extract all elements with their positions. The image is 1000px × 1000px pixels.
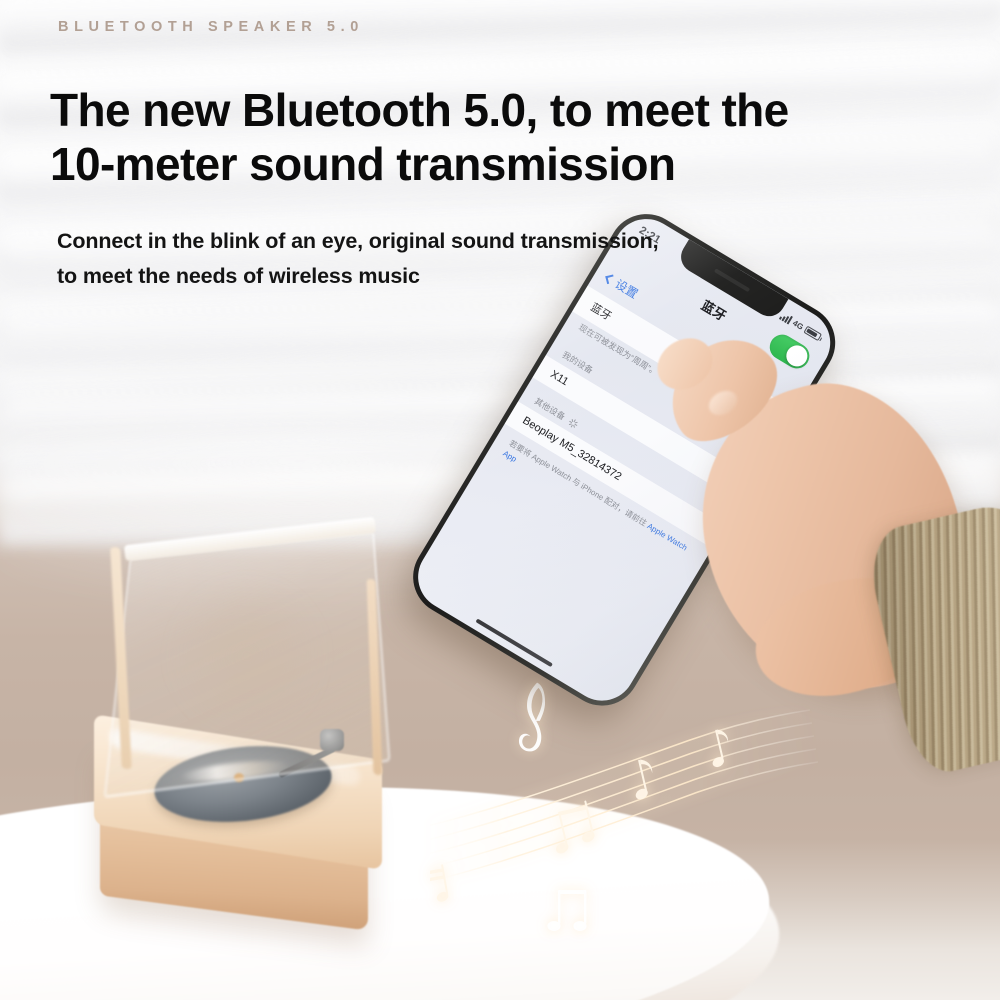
page-title: 蓝牙 bbox=[699, 295, 731, 325]
eyebrow-label: BLUETOOTH SPEAKER 5.0 bbox=[58, 19, 364, 35]
acrylic-lid bbox=[104, 532, 391, 798]
bluetooth-row-label: 蓝牙 bbox=[588, 299, 615, 324]
signal-bars-icon bbox=[779, 311, 793, 324]
thumb-group bbox=[612, 330, 1000, 760]
bluetooth-turntable-speaker bbox=[88, 525, 408, 945]
subheadline-line-1: Connect in the blink of an eye, original… bbox=[57, 224, 837, 259]
headline-line-1: The new Bluetooth 5.0, to meet the bbox=[50, 84, 900, 138]
loading-spinner-icon bbox=[566, 417, 578, 429]
thumb bbox=[650, 319, 794, 458]
device-name: X11 bbox=[548, 369, 570, 389]
headline-line-2: 10-meter sound transmission bbox=[50, 138, 900, 192]
product-banner-scene: 2:21 4G 蓝牙 设置 bbox=[0, 0, 1000, 1000]
headline: The new Bluetooth 5.0, to meet the 10-me… bbox=[50, 84, 900, 192]
subheadline: Connect in the blink of an eye, original… bbox=[57, 224, 837, 294]
subheadline-line-2: to meet the needs of wireless music bbox=[57, 259, 837, 294]
